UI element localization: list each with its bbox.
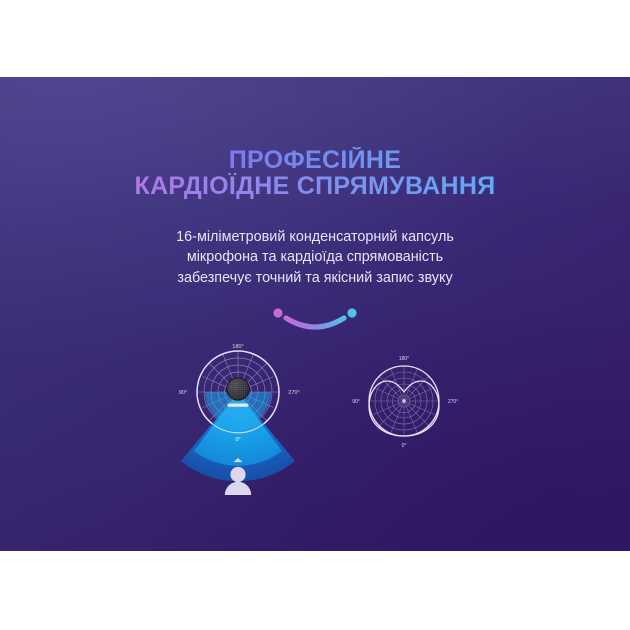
pickup-illustration-chart: 180° 90° 270° 0° [158, 335, 318, 495]
cardioid-polar-chart: 180° 90° 270° 0° [337, 339, 472, 459]
smile-dot-right [347, 308, 356, 317]
angle-label-180: 180° [399, 356, 409, 362]
angle-label-180: 180° [232, 344, 244, 350]
subtitle-line-2: мікрофона та кардіоїда спрямованість [0, 247, 630, 267]
angle-label-0: 0° [235, 437, 240, 443]
angle-label-90: 90° [352, 399, 360, 405]
smile-arc [286, 318, 344, 327]
hero-panel: ПРОФЕСІЙНЕ КАРДІОЇДНЕ СПРЯМУВАННЯ 16-міл… [0, 77, 630, 551]
smile-dot-left [273, 308, 282, 317]
headline-line-2: КАРДІОЇДНЕ СПРЯМУВАННЯ [0, 173, 630, 199]
angle-label-0: 0° [402, 443, 407, 449]
polar-origin-dot [402, 399, 405, 402]
subtitle-text: 16-міліметровий конденсаторний капсуль м… [0, 227, 630, 288]
subtitle-line-3: забезпечує точний та якісний запис звуку [0, 268, 630, 288]
angle-label-90: 90° [179, 390, 187, 396]
subtitle-line-1: 16-міліметровий конденсаторний капсуль [0, 227, 630, 247]
angle-label-270: 270° [288, 390, 300, 396]
headline-line-1: ПРОФЕСІЙНЕ [0, 147, 630, 173]
angle-label-270: 270° [448, 399, 458, 405]
page-title: ПРОФЕСІЙНЕ КАРДІОЇДНЕ СПРЯМУВАННЯ [0, 147, 630, 199]
smile-swoosh-icon [272, 303, 358, 337]
